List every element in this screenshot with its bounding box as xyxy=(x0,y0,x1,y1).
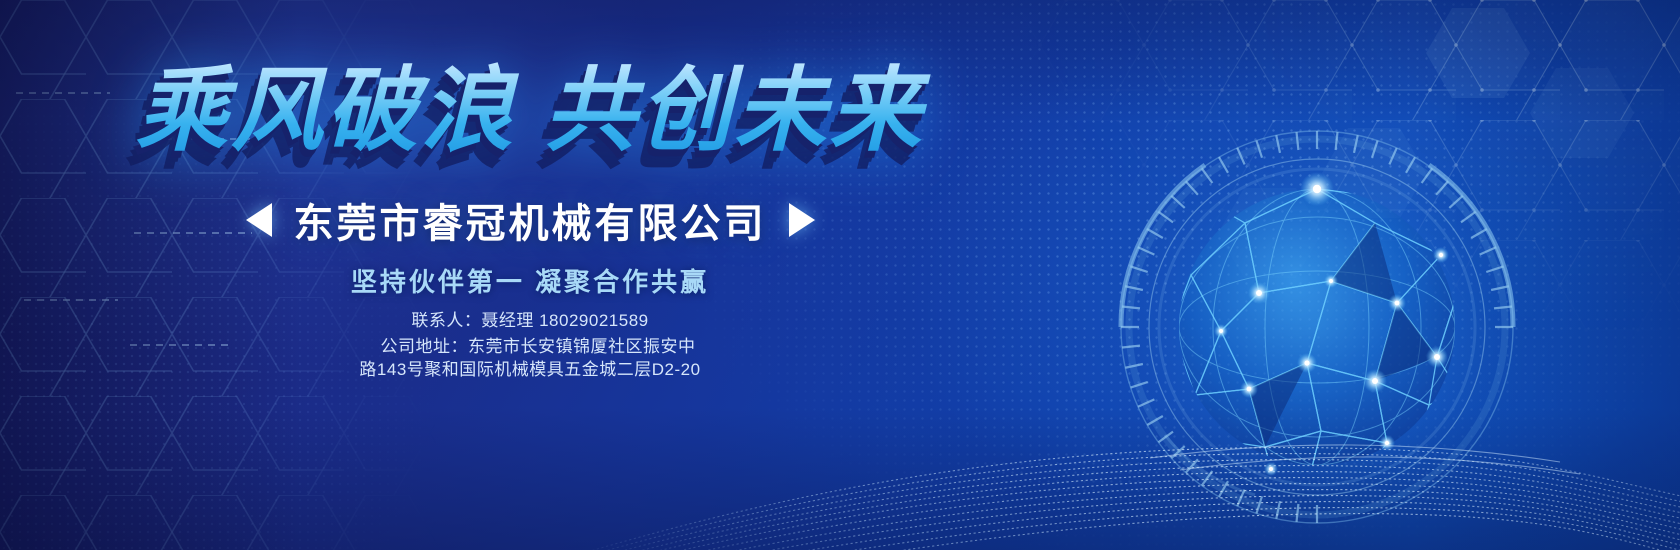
company-name: 东莞市睿冠机械有限公司 xyxy=(294,191,767,249)
right-triangle-marker-icon xyxy=(789,203,815,237)
banner-text-block: 乘风破浪 共创未来 东莞市睿冠机械有限公司 坚持伙伴第一 凝聚合作共赢 联系人：… xyxy=(0,0,1060,550)
promotional-banner: 乘风破浪 共创未来 东莞市睿冠机械有限公司 坚持伙伴第一 凝聚合作共赢 联系人：… xyxy=(0,0,1680,550)
company-name-row: 东莞市睿冠机械有限公司 xyxy=(0,191,1060,249)
tech-globe-graphic xyxy=(1045,95,1605,550)
headline: 乘风破浪 共创未来 xyxy=(0,62,1060,161)
company-address-label: 公司地址： xyxy=(365,337,469,356)
slogan: 坚持伙伴第一 凝聚合作共赢 xyxy=(0,262,1060,299)
company-address-wrap: 公司地址：东莞市长安镇锦厦社区振安中路143号聚和国际机械模具五金城二层D2-2… xyxy=(358,336,702,382)
contact-info-block: 联系人：聂经理 18029021589 公司地址：东莞市长安镇锦厦社区振安中路1… xyxy=(0,310,1060,382)
contact-person-line: 联系人：聂经理 18029021589 xyxy=(0,310,1060,333)
left-triangle-marker-icon xyxy=(246,203,272,237)
